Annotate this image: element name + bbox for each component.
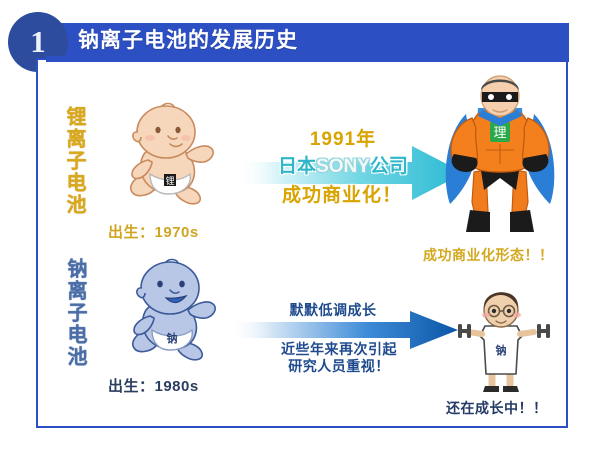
page-title: 钠离子电池的发展历史 bbox=[78, 25, 298, 56]
arrow-text-attention: 近些年来再次引起 研究人员重视！ bbox=[234, 341, 444, 374]
arrow-text-year: 1991年 bbox=[248, 129, 438, 151]
svg-text:钠: 钠 bbox=[496, 343, 507, 357]
superhero-icon: 理 bbox=[430, 72, 570, 244]
arrow-text-company-suffix: 公司 bbox=[370, 156, 408, 177]
baby-sodium-icon: 钠 bbox=[112, 258, 230, 374]
arrow-text-attention-line2: 研究人员重视！ bbox=[234, 358, 444, 375]
arrow-text-quiet-growth: 默默低调成长 bbox=[243, 302, 423, 319]
result-caption-sodium: 还在成长中！！ bbox=[446, 398, 548, 418]
boy-with-dumbbells-icon: 钠 bbox=[452, 282, 556, 400]
birth-lithium: 出生：1970s bbox=[108, 221, 199, 242]
result-caption-lithium: 成功商业化形态！！ bbox=[423, 245, 554, 265]
arrow-text-company: 日本SONY公司 bbox=[245, 156, 441, 178]
svg-text:锂: 锂 bbox=[165, 175, 174, 187]
banner-frame-overlap bbox=[46, 56, 569, 62]
arrow-text-attention-line1: 近些年来再次引起 bbox=[234, 341, 444, 358]
row-label-lithium: 锂离子电池 bbox=[63, 106, 84, 216]
slide-canvas: 1 钠离子电池的发展历史 锂离子电池 bbox=[0, 0, 600, 450]
arrow-text-company-latin: SONY bbox=[316, 156, 370, 177]
svg-text:理: 理 bbox=[493, 126, 506, 141]
baby-lithium-icon: 锂 bbox=[108, 102, 228, 220]
header-number: 1 bbox=[30, 26, 46, 57]
svg-text:钠: 钠 bbox=[167, 331, 178, 345]
birth-sodium: 出生：1980s bbox=[108, 375, 199, 396]
arrow-text-commercialized: 成功商业化！ bbox=[246, 185, 438, 207]
row-label-sodium: 钠离子电池 bbox=[64, 258, 85, 368]
arrow-text-company-prefix: 日本 bbox=[278, 156, 316, 177]
